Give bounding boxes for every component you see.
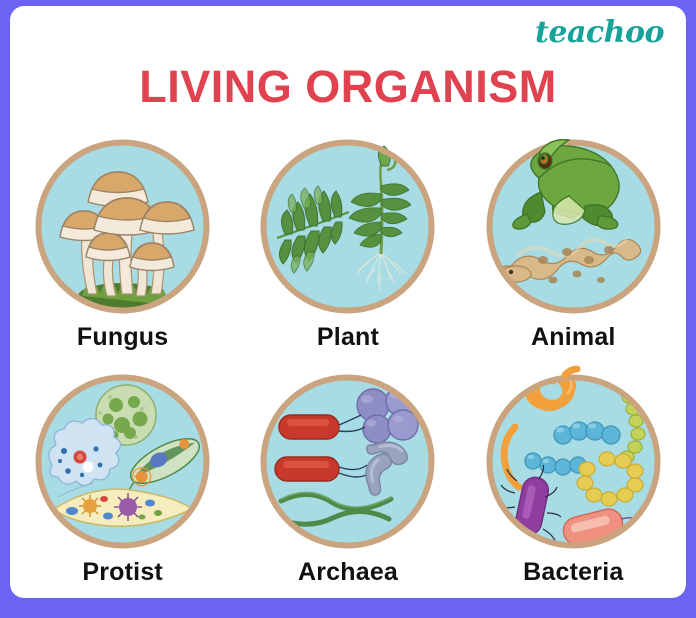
animal-illustration xyxy=(481,134,666,319)
organism-grid: Fungus xyxy=(10,134,686,598)
frog-and-snake-icon xyxy=(481,134,666,319)
organism-label-protist: Protist xyxy=(82,560,163,585)
poster-card: teachoo LIVING ORGANISM xyxy=(10,6,686,598)
teachoo-logo: teachoo xyxy=(535,18,664,48)
plant-illustration xyxy=(255,134,440,319)
poster-frame: teachoo LIVING ORGANISM xyxy=(0,0,696,618)
organism-label-archaea: Archaea xyxy=(298,560,398,585)
archaea-illustration xyxy=(255,369,440,554)
page-title: LIVING ORGANISM xyxy=(10,64,686,109)
organism-label-animal: Animal xyxy=(531,325,616,350)
archaea-cells-icon xyxy=(255,369,440,554)
amoeba-volvox-euglena-paramecium-icon xyxy=(30,369,215,554)
bacteria-cells-icon xyxy=(481,369,666,554)
organism-cell-fungus: Fungus xyxy=(10,134,235,369)
organism-cell-plant: Plant xyxy=(235,134,460,369)
organism-cell-animal: Animal xyxy=(461,134,686,369)
bacteria-illustration xyxy=(481,369,666,554)
protist-illustration xyxy=(30,369,215,554)
organism-label-fungus: Fungus xyxy=(77,325,168,350)
organism-cell-protist: Protist xyxy=(10,369,235,598)
mushroom-cluster-icon xyxy=(30,134,215,319)
organism-label-plant: Plant xyxy=(317,325,379,350)
organism-label-bacteria: Bacteria xyxy=(523,560,623,585)
fungus-illustration xyxy=(30,134,215,319)
fern-and-sprout-icon xyxy=(255,134,440,319)
organism-cell-archaea: Archaea xyxy=(235,369,460,598)
organism-cell-bacteria: Bacteria xyxy=(461,369,686,598)
